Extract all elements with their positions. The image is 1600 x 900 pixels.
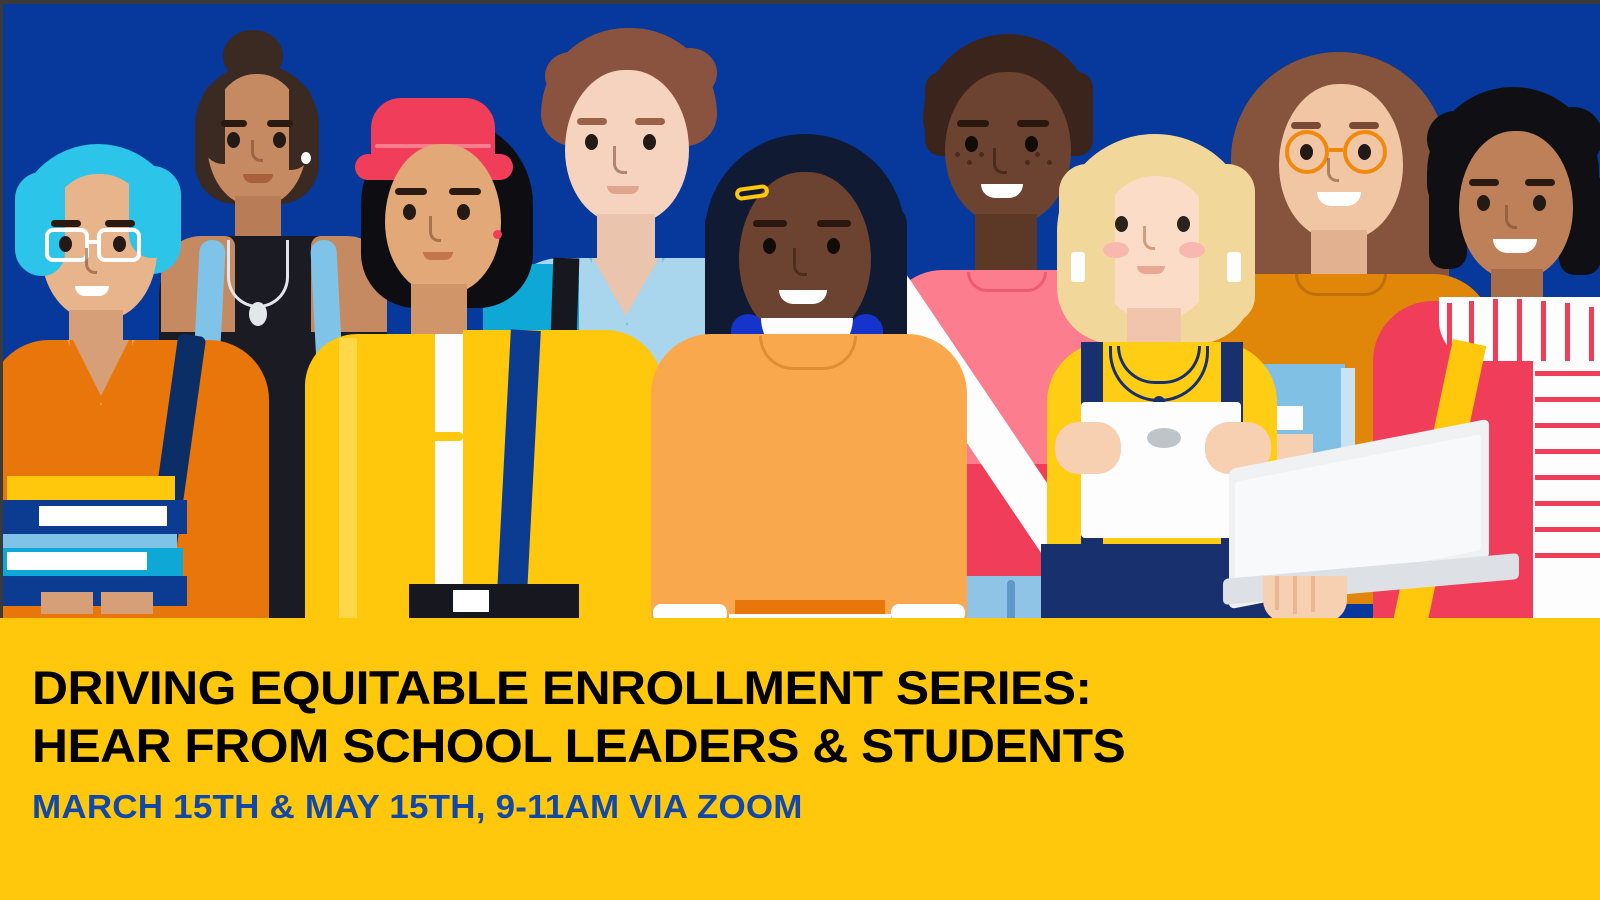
yellow-jacket [463, 330, 663, 618]
earring-icon [493, 230, 502, 239]
laptop-device [1229, 444, 1529, 618]
book [3, 534, 177, 548]
students-group-illustration [3, 4, 1600, 618]
book [7, 476, 175, 500]
event-date-time: MARCH 15TH & MAY 15TH, 9-11AM VIA ZOOM [32, 788, 803, 826]
event-promo-poster: DRIVING EQUITABLE ENROLLMENT SERIES: HEA… [0, 0, 1600, 900]
orange-hoodie [651, 334, 967, 618]
yellow-jacket [305, 334, 435, 618]
earring-icon [1227, 252, 1241, 282]
belt [409, 584, 579, 618]
page-title: DRIVING EQUITABLE ENROLLMENT SERIES: HEA… [32, 659, 1516, 775]
student-5-orange-hoodie-blue-braids [643, 134, 973, 618]
earring-icon [301, 152, 311, 164]
earring-icon [1071, 252, 1085, 282]
book [3, 576, 187, 606]
student-1-blue-hair-books [3, 144, 293, 618]
student-3-red-hat-yellow-jacket [313, 84, 663, 618]
event-banner: DRIVING EQUITABLE ENROLLMENT SERIES: HEA… [0, 618, 1600, 900]
